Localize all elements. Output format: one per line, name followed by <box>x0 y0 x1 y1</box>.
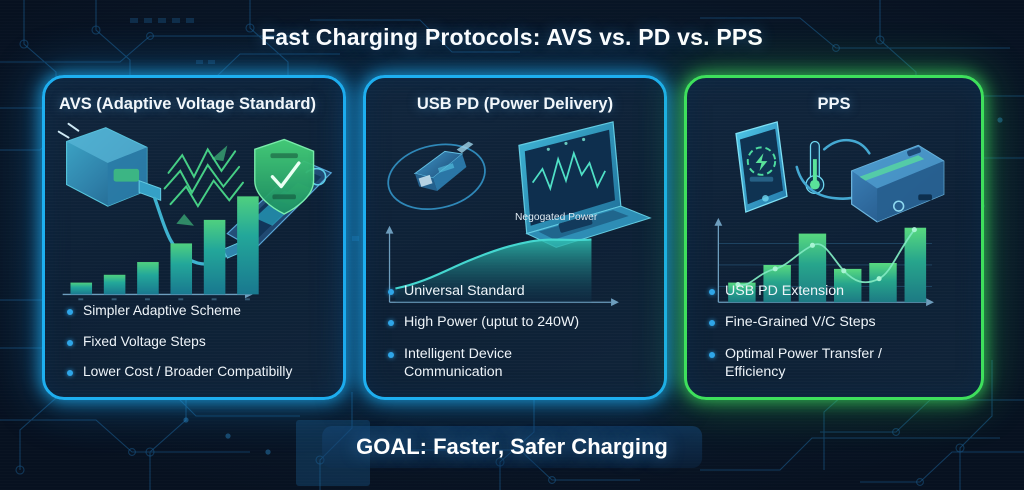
bullet-dot-icon <box>67 309 73 315</box>
bullet-dot-icon <box>388 352 394 358</box>
bullet-dot-icon <box>709 352 715 358</box>
bullet-dot-icon <box>388 289 394 295</box>
avs-illustration <box>45 114 343 314</box>
card-avs-title: AVS (Adaptive Voltage Standard) <box>45 95 343 114</box>
chart-annotation-label: Negogated Power <box>515 212 598 223</box>
card-pps[interactable]: PPS <box>684 75 984 400</box>
bullet-label: Simpler Adaptive Scheme <box>83 302 241 320</box>
list-item: USB PD Extension <box>705 282 971 300</box>
list-item: Intelligent Device Communication <box>384 345 654 381</box>
bullet-label: Universal Standard <box>404 282 525 300</box>
card-usb-pd[interactable]: USB PD (Power Delivery) <box>363 75 667 400</box>
bullet-dot-icon <box>67 340 73 346</box>
bullet-dot-icon <box>709 320 715 326</box>
list-item: Simpler Adaptive Scheme <box>63 302 333 320</box>
pps-bullet-list: USB PD Extension Fine-Grained V/C Steps … <box>705 282 971 381</box>
bullet-dot-icon <box>709 289 715 295</box>
bullet-label: Lower Cost / Broader Compatibilly <box>83 363 292 381</box>
thermometer-icon <box>806 141 824 193</box>
avs-bullet-list: Simpler Adaptive Scheme Fixed Voltage St… <box>63 302 333 381</box>
bullet-dot-icon <box>388 320 394 326</box>
card-avs[interactable]: AVS (Adaptive Voltage Standard) <box>42 75 346 400</box>
bullet-label: Fixed Voltage Steps <box>83 333 206 351</box>
goal-banner: GOAL: Faster, Safer Charging <box>322 426 702 468</box>
smartphone-charging-icon <box>736 122 787 212</box>
wall-charger-icon <box>59 124 161 206</box>
bullet-label: Fine-Grained V/C Steps <box>725 313 876 331</box>
card-usb-pd-title: USB PD (Power Delivery) <box>366 95 664 114</box>
bullet-dot-icon <box>67 370 73 376</box>
page-title: Fast Charging Protocols: AVS vs. PD vs. … <box>0 24 1024 51</box>
list-item: Universal Standard <box>384 282 654 300</box>
list-item: Optimal Power Transfer / Efficiency <box>705 345 971 381</box>
bullet-label: Optimal Power Transfer / Efficiency <box>725 345 882 381</box>
list-item: High Power (uptut to 240W) <box>384 313 654 331</box>
list-item: Lower Cost / Broader Compatibilly <box>63 363 333 381</box>
bullet-label: High Power (uptut to 240W) <box>404 313 579 331</box>
bullet-label: USB PD Extension <box>725 282 844 300</box>
usb-pd-bullet-list: Universal Standard High Power (uptut to … <box>384 282 654 381</box>
list-item: Fine-Grained V/C Steps <box>705 313 971 331</box>
energy-waves-icon <box>165 145 243 225</box>
laptop-icon <box>519 122 650 247</box>
bullet-label: Intelligent Device Communication <box>404 345 512 381</box>
card-pps-title: PPS <box>687 95 981 114</box>
list-item: Fixed Voltage Steps <box>63 333 333 351</box>
power-bank-icon <box>852 145 944 221</box>
